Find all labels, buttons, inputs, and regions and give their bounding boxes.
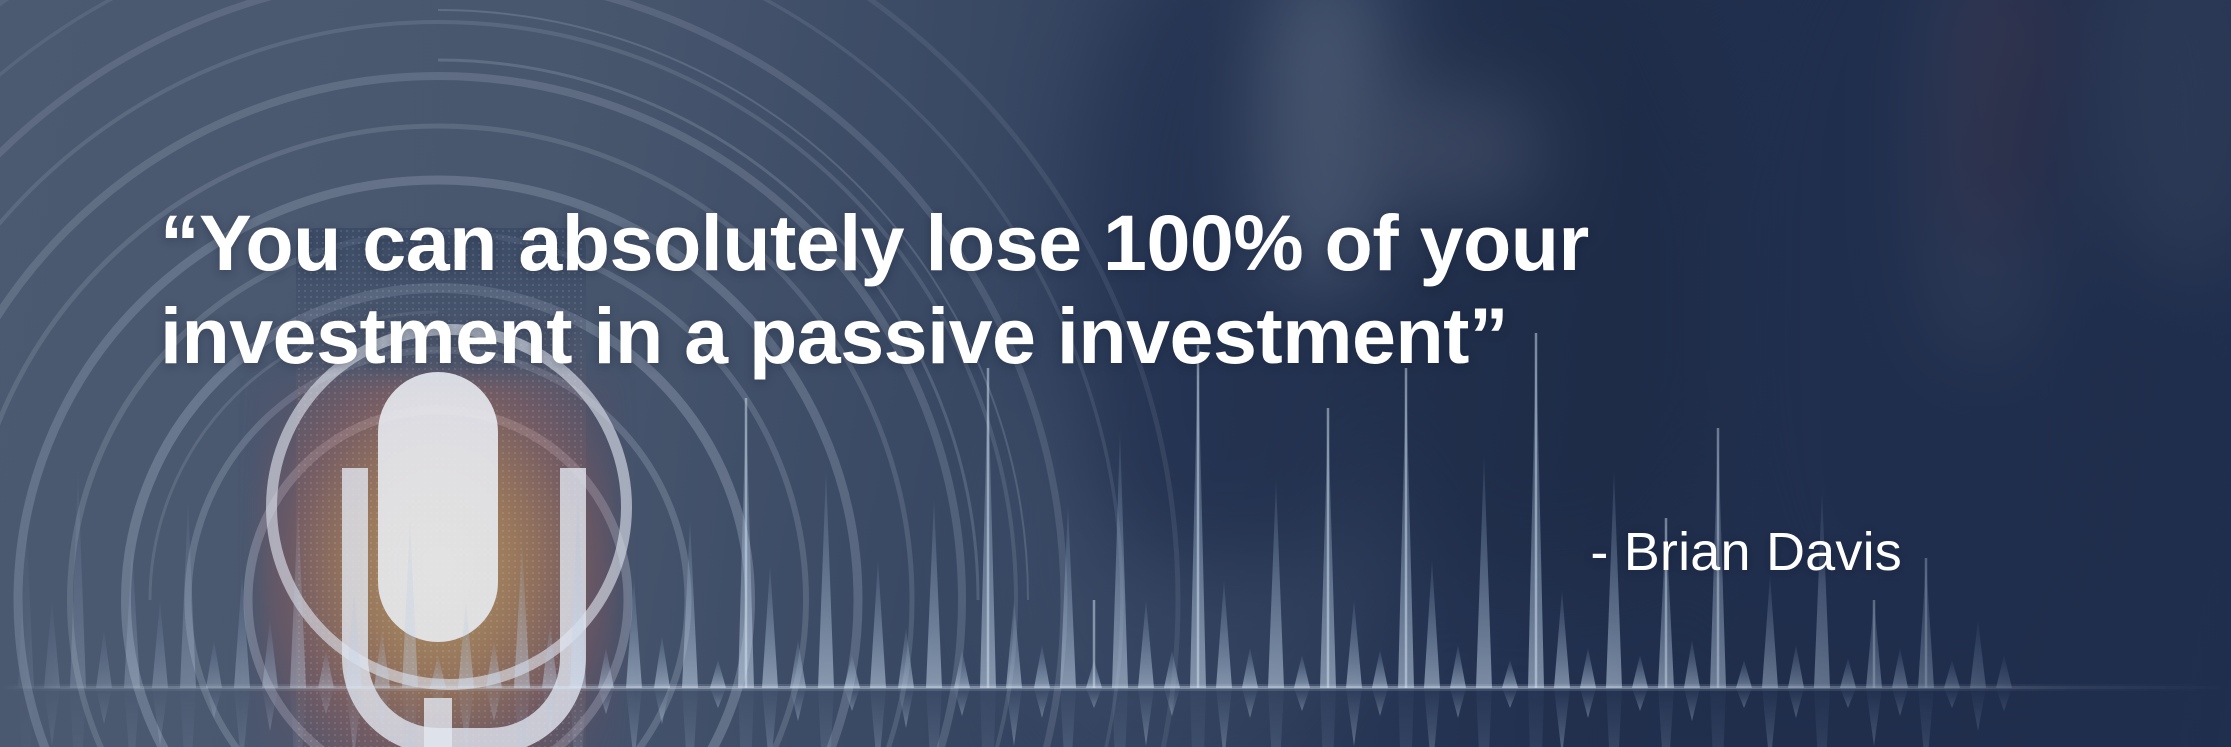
quote-banner: “You can absolutely lose 100% of your in… [0, 0, 2231, 747]
quote-attribution: - Brian Davis [0, 520, 1902, 584]
quote-text: “You can absolutely lose 100% of your in… [160, 196, 1860, 382]
